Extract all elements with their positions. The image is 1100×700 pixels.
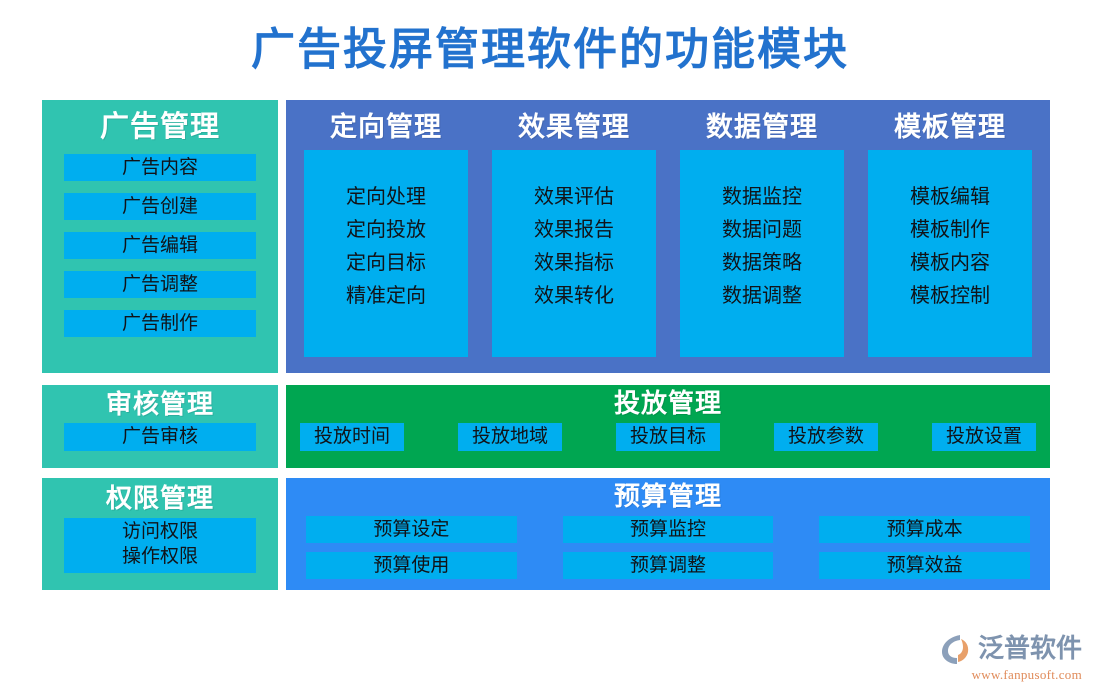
board-column-title: 效果管理 [484, 100, 664, 150]
board-column-item[interactable]: 模板控制 [910, 284, 990, 308]
board-column-body: 模板编辑 模板制作 模板内容 模板控制 [868, 150, 1032, 357]
delivery-management-item-list: 投放时间 投放地域 投放目标 投放参数 投放设置 [286, 423, 1050, 451]
ad-management-item[interactable]: 广告制作 [64, 310, 256, 337]
board-column-item[interactable]: 模板编辑 [910, 185, 990, 209]
panel-audit-management: 审核管理 广告审核 [42, 385, 278, 468]
audit-management-item[interactable]: 广告审核 [64, 423, 256, 451]
panel-title-permission-management: 权限管理 [42, 478, 278, 518]
panel-ad-management: 广告管理 广告内容 广告创建 广告编辑 广告调整 广告制作 [42, 100, 278, 373]
page-title: 广告投屏管理软件的功能模块 [0, 22, 1100, 78]
brand-name: 泛普软件 [978, 634, 1082, 664]
ad-management-item[interactable]: 广告编辑 [64, 232, 256, 259]
feature-board-columns: 定向管理 定向处理 定向投放 定向目标 精准定向 效果管理 效果评估 效果报告 … [286, 100, 1050, 373]
budget-management-item[interactable]: 预算成本 [819, 516, 1030, 543]
board-column-targeting: 定向管理 定向处理 定向投放 定向目标 精准定向 [296, 100, 476, 373]
permission-management-item-list: 访问权限 操作权限 [64, 518, 256, 573]
delivery-management-item[interactable]: 投放目标 [616, 423, 720, 451]
board-column-item[interactable]: 模板内容 [910, 251, 990, 275]
board-column-item[interactable]: 效果评估 [534, 185, 614, 209]
delivery-management-item[interactable]: 投放参数 [774, 423, 878, 451]
board-column-effect: 效果管理 效果评估 效果报告 效果指标 效果转化 [484, 100, 664, 373]
ad-management-item[interactable]: 广告调整 [64, 271, 256, 298]
fanpu-swoosh-icon [940, 632, 974, 666]
board-column-item[interactable]: 定向处理 [346, 185, 426, 209]
board-column-item[interactable]: 数据策略 [722, 251, 802, 275]
budget-management-item[interactable]: 预算监控 [563, 516, 774, 543]
panel-title-ad-management: 广告管理 [42, 100, 278, 150]
audit-management-item-list: 广告审核 [42, 423, 278, 451]
delivery-management-item[interactable]: 投放设置 [932, 423, 1036, 451]
board-column-data: 数据管理 数据监控 数据问题 数据策略 数据调整 [672, 100, 852, 373]
delivery-management-item[interactable]: 投放时间 [300, 423, 404, 451]
panel-feature-board: 定向管理 定向处理 定向投放 定向目标 精准定向 效果管理 效果评估 效果报告 … [286, 100, 1050, 373]
permission-management-item[interactable]: 操作权限 [64, 544, 256, 569]
board-column-item[interactable]: 定向目标 [346, 251, 426, 275]
permission-management-item[interactable]: 访问权限 [64, 519, 256, 544]
panel-title-budget-management: 预算管理 [286, 478, 1050, 514]
ad-management-item[interactable]: 广告创建 [64, 193, 256, 220]
ad-management-item-list: 广告内容 广告创建 广告编辑 广告调整 广告制作 [42, 150, 278, 337]
board-column-item[interactable]: 效果指标 [534, 251, 614, 275]
board-column-item[interactable]: 数据监控 [722, 185, 802, 209]
board-column-body: 数据监控 数据问题 数据策略 数据调整 [680, 150, 844, 357]
board-column-item[interactable]: 数据问题 [722, 218, 802, 242]
board-column-item[interactable]: 效果报告 [534, 218, 614, 242]
board-column-title: 模板管理 [860, 100, 1040, 150]
panel-delivery-management: 投放管理 投放时间 投放地域 投放目标 投放参数 投放设置 [286, 385, 1050, 468]
panel-permission-management: 权限管理 访问权限 操作权限 [42, 478, 278, 590]
board-column-body: 定向处理 定向投放 定向目标 精准定向 [304, 150, 468, 357]
board-column-item[interactable]: 数据调整 [722, 284, 802, 308]
board-column-title: 数据管理 [672, 100, 852, 150]
board-column-item[interactable]: 模板制作 [910, 218, 990, 242]
brand-logo: 泛普软件 www.fanpusoft.com [922, 632, 1082, 688]
budget-management-item[interactable]: 预算设定 [306, 516, 517, 543]
board-column-item[interactable]: 精准定向 [346, 284, 426, 308]
budget-management-item[interactable]: 预算使用 [306, 552, 517, 579]
ad-management-item[interactable]: 广告内容 [64, 154, 256, 181]
brand-logo-row: 泛普软件 [922, 632, 1082, 666]
panel-title-audit-management: 审核管理 [42, 385, 278, 423]
budget-management-item-list: 预算设定 预算监控 预算成本 预算使用 预算调整 预算效益 [286, 514, 1050, 579]
panel-title-delivery-management: 投放管理 [286, 385, 1050, 421]
brand-url: www.fanpusoft.com [922, 667, 1082, 683]
budget-management-item[interactable]: 预算调整 [563, 552, 774, 579]
budget-management-item[interactable]: 预算效益 [819, 552, 1030, 579]
board-column-item[interactable]: 定向投放 [346, 218, 426, 242]
board-column-body: 效果评估 效果报告 效果指标 效果转化 [492, 150, 656, 357]
board-column-template: 模板管理 模板编辑 模板制作 模板内容 模板控制 [860, 100, 1040, 373]
board-column-item[interactable]: 效果转化 [534, 284, 614, 308]
delivery-management-item[interactable]: 投放地域 [458, 423, 562, 451]
panel-budget-management: 预算管理 预算设定 预算监控 预算成本 预算使用 预算调整 预算效益 [286, 478, 1050, 590]
board-column-title: 定向管理 [296, 100, 476, 150]
